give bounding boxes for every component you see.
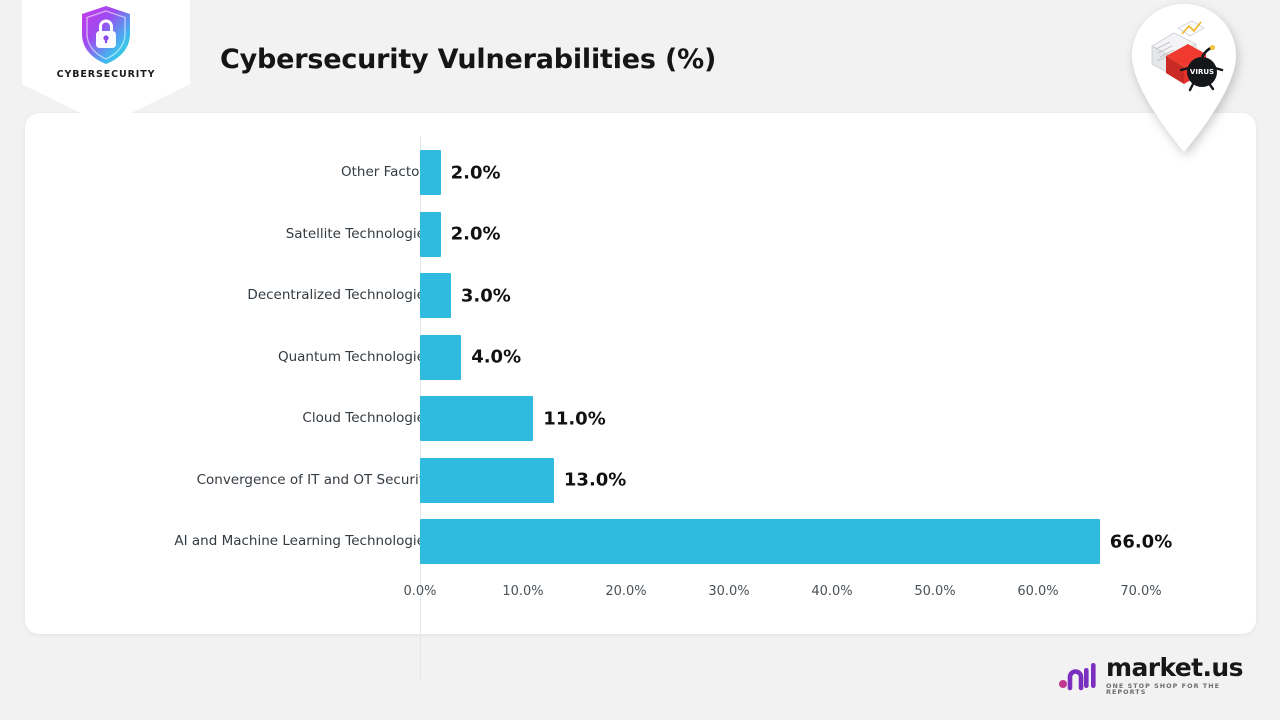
bar-row: Other Factors2.0% — [25, 142, 1256, 203]
bar-value-label: 2.0% — [451, 224, 501, 245]
slide-root: CYBERSECURITY — [0, 0, 1280, 720]
bar[interactable] — [420, 519, 1100, 564]
x-axis: 0.0%10.0%20.0%30.0%40.0%50.0%60.0%70.0% — [25, 584, 1256, 624]
bar-track: 2.0% — [420, 150, 441, 195]
page-title: Cybersecurity Vulnerabilities (%) — [220, 44, 716, 75]
bar-value-label: 2.0% — [451, 162, 501, 183]
bar-value-label: 3.0% — [461, 285, 511, 306]
bar-category-label: Decentralized Technologies — [102, 286, 432, 304]
market-us-logo[interactable]: market.us ONE STOP SHOP FOR THE REPORTS — [1058, 652, 1258, 698]
bar-track: 3.0% — [420, 273, 451, 318]
x-axis-tick-label: 20.0% — [605, 584, 646, 599]
bar-category-label: Satellite Technologies — [102, 225, 432, 243]
map-pin-virus-badge: VIRUS — [1132, 4, 1236, 152]
bar-row: Quantum Technologies4.0% — [25, 327, 1256, 388]
bar-category-label: Quantum Technologies — [102, 348, 432, 366]
bar-track: 2.0% — [420, 212, 441, 257]
bar[interactable] — [420, 335, 461, 380]
cybersecurity-banner-inner: CYBERSECURITY — [22, 0, 190, 125]
x-axis-tick-label: 10.0% — [502, 584, 543, 599]
bar-value-label: 11.0% — [543, 408, 605, 429]
bar-row: Cloud Technologies11.0% — [25, 388, 1256, 449]
market-us-bars-icon — [1058, 659, 1098, 691]
brand-text: market.us ONE STOP SHOP FOR THE REPORTS — [1106, 655, 1258, 696]
banner-label: CYBERSECURITY — [57, 69, 156, 80]
bar-track: 13.0% — [420, 458, 554, 503]
x-axis-tick-label: 50.0% — [914, 584, 955, 599]
x-axis-tick-label: 30.0% — [708, 584, 749, 599]
bar-track: 66.0% — [420, 519, 1100, 564]
virus-label: VIRUS — [1190, 68, 1214, 76]
bar[interactable] — [420, 212, 441, 257]
x-axis-tick-label: 0.0% — [403, 584, 436, 599]
bar-category-label: Cloud Technologies — [102, 409, 432, 427]
bar-value-label: 13.0% — [564, 470, 626, 491]
bar-category-label: AI and Machine Learning Technologies — [102, 532, 432, 550]
bar[interactable] — [420, 396, 533, 441]
bar-category-label: Other Factors — [102, 163, 432, 181]
x-axis-tick-label: 60.0% — [1017, 584, 1058, 599]
x-axis-tick-label: 40.0% — [811, 584, 852, 599]
x-axis-tick-label: 70.0% — [1120, 584, 1161, 599]
bar-value-label: 4.0% — [471, 347, 521, 368]
bar[interactable] — [420, 273, 451, 318]
bar-row: Decentralized Technologies3.0% — [25, 265, 1256, 326]
bar[interactable] — [420, 458, 554, 503]
brand-name: market.us — [1106, 655, 1258, 680]
bar-row: Satellite Technologies2.0% — [25, 204, 1256, 265]
shield-lock-icon — [78, 4, 134, 66]
bar-chart: Other Factors2.0%Satellite Technologies2… — [25, 113, 1256, 634]
bar-value-label: 66.0% — [1110, 531, 1172, 552]
bar[interactable] — [420, 150, 441, 195]
virus-illustration-icon: VIRUS — [1144, 18, 1224, 96]
bar-row: Convergence of IT and OT Security13.0% — [25, 450, 1256, 511]
bar-row: AI and Machine Learning Technologies66.0… — [25, 511, 1256, 572]
bar-track: 4.0% — [420, 335, 461, 380]
bar-track: 11.0% — [420, 396, 533, 441]
bar-category-label: Convergence of IT and OT Security — [102, 471, 432, 489]
cybersecurity-banner: CYBERSECURITY — [22, 0, 190, 125]
brand-tagline: ONE STOP SHOP FOR THE REPORTS — [1106, 683, 1258, 696]
